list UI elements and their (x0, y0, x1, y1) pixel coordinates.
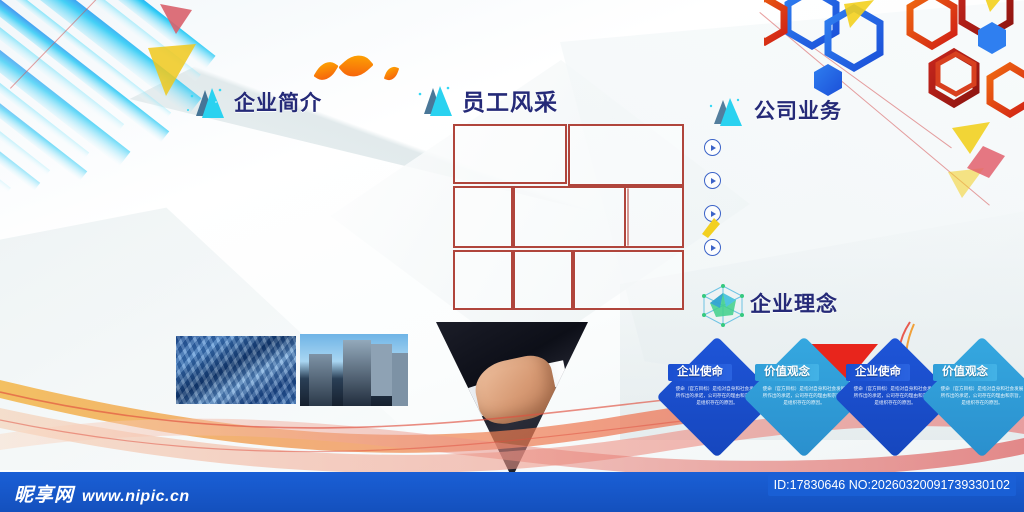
section-title: 企业简介 (234, 87, 322, 117)
photo-frame[interactable] (624, 186, 684, 248)
philosophy-card-label: 企业使命 (846, 364, 910, 381)
mountain-icon (182, 82, 226, 122)
photo-frame[interactable] (453, 250, 513, 310)
decor-diamond-red (955, 140, 1015, 190)
decor-ribbon-yellow (698, 208, 724, 240)
decor-hex-small (930, 50, 1000, 110)
photo-frame[interactable] (453, 124, 567, 184)
photo-frame[interactable] (568, 124, 684, 186)
mountain-icon (410, 80, 454, 120)
site-name-cn: 昵享网 (14, 480, 74, 507)
image-id-text: ID:17830646 NO:20260320091739330102 (774, 478, 1010, 492)
section-heading-company-philosophy: 企业理念 (698, 283, 838, 323)
poster-canvas: 企业简介 员工风采 公司业务 (0, 0, 1024, 512)
philosophy-card-body: 使命（官方目标）是指对自身和社会发展所作出的承诺，公司存在的理由和宗旨，是组织存… (940, 385, 1024, 406)
section-heading-company-business: 公司业务 (702, 90, 842, 130)
mountain-icon (702, 90, 746, 130)
play-circle-icon[interactable] (704, 239, 721, 256)
photo-frame[interactable] (453, 186, 513, 248)
philosophy-card-label: 价值观念 (933, 364, 997, 381)
polygon-network-icon (698, 283, 742, 323)
philosophy-card-body: 使命（官方目标）是指对自身和社会发展所作出的承诺，公司存在的理由和宗旨，是组织存… (762, 385, 846, 406)
philosophy-card-label: 价值观念 (755, 364, 819, 381)
photo-frame[interactable] (513, 186, 629, 248)
photo-frame[interactable] (573, 250, 684, 310)
site-url: www.nipic.cn (82, 488, 190, 506)
philosophy-card-label: 企业使命 (668, 364, 732, 381)
section-title: 员工风采 (462, 83, 558, 117)
site-branding: 昵享网 www.nipic.cn (14, 480, 190, 507)
section-heading-company-profile: 企业简介 (182, 82, 322, 122)
section-title: 企业理念 (750, 288, 838, 318)
play-circle-icon[interactable] (704, 139, 721, 156)
play-circle-icon[interactable] (704, 172, 721, 189)
image-id-badge: ID:17830646 NO:20260320091739330102 (768, 474, 1016, 496)
section-title: 公司业务 (754, 95, 842, 125)
section-heading-staff-style: 员工风采 (410, 80, 558, 120)
photo-frame[interactable] (513, 250, 573, 310)
